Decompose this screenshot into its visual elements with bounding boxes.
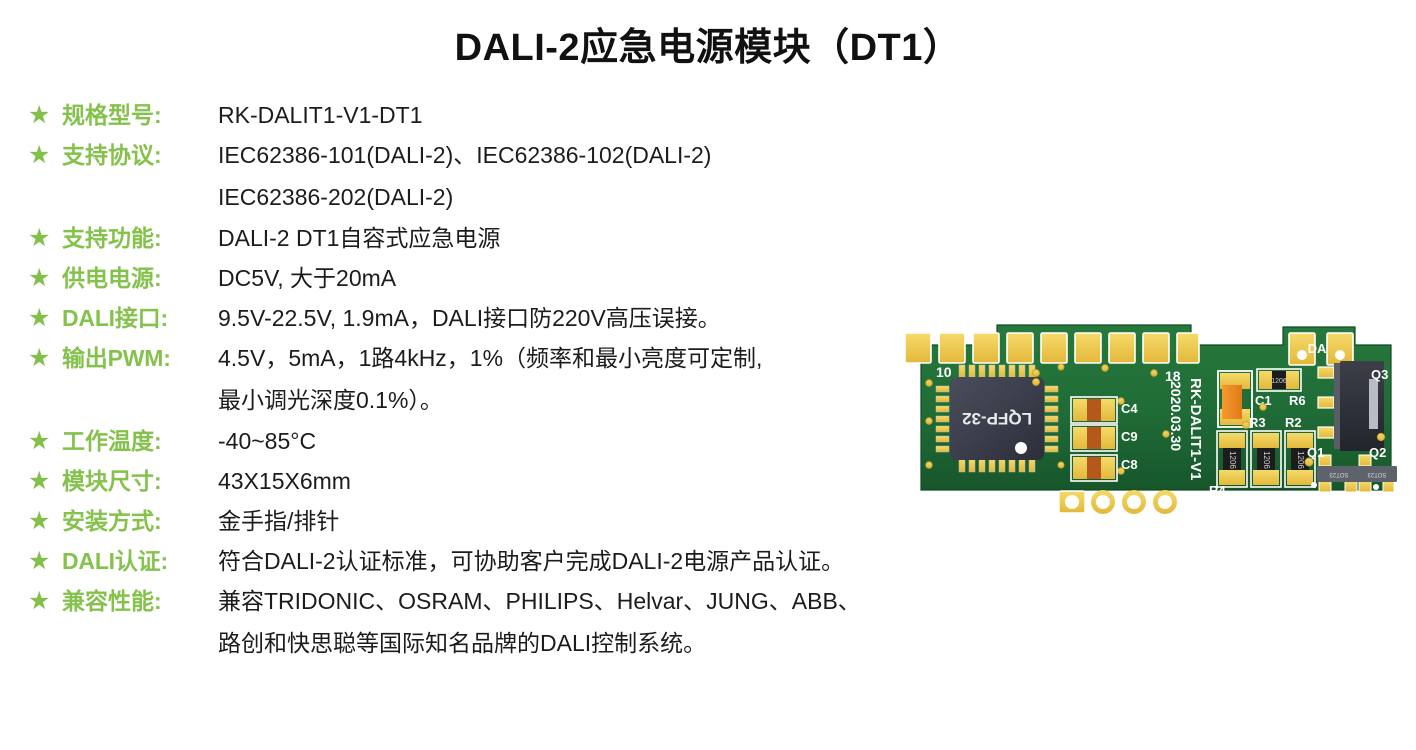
- spec-value-line1: IEC62386-101(DALI-2)、IEC62386-102(DALI-2…: [218, 142, 711, 168]
- silkscreen-chip-label: LQFP-32: [962, 409, 1032, 428]
- spec-row-mounting: ★ 安装方式: 金手指/排针: [28, 506, 908, 537]
- spec-value-line2: 路创和快思聪等国际知名品牌的DALI控制系统。: [218, 628, 908, 659]
- spec-label: DALI认证:: [62, 546, 218, 577]
- silkscreen-da-label: DA: [1308, 341, 1327, 356]
- spec-value: IEC62386-101(DALI-2)、IEC62386-102(DALI-2…: [218, 140, 908, 213]
- star-icon: ★: [28, 586, 62, 617]
- spec-label: 模块尺寸:: [62, 466, 218, 497]
- silkscreen-c4: C4: [1121, 401, 1138, 416]
- silkscreen-c8: C8: [1121, 457, 1138, 472]
- spec-value: RK-DALIT1-V1-DT1: [218, 100, 908, 131]
- spec-row-temperature: ★ 工作温度: -40~85°C: [28, 426, 908, 457]
- spec-row-function: ★ 支持功能: DALI-2 DT1自容式应急电源: [28, 223, 908, 254]
- silkscreen-q3: Q3: [1371, 367, 1388, 382]
- spec-value-line2: 最小调光深度0.1%）。: [218, 385, 908, 416]
- silkscreen-q2: Q2: [1369, 445, 1386, 460]
- star-icon: ★: [28, 506, 62, 537]
- spec-value: 符合DALI-2认证标准，可协助客户完成DALI-2电源产品认证。: [218, 546, 908, 577]
- star-icon: ★: [28, 140, 62, 171]
- silkscreen-r2: R2: [1285, 415, 1302, 430]
- spec-list: ★ 规格型号: RK-DALIT1-V1-DT1 ★ 支持协议: IEC6238…: [28, 100, 908, 669]
- silkscreen-c9: C9: [1121, 429, 1138, 444]
- spec-label: 支持功能:: [62, 223, 218, 254]
- spec-value: 金手指/排针: [218, 506, 908, 537]
- star-icon: ★: [28, 263, 62, 294]
- spec-label: 规格型号:: [62, 100, 218, 131]
- spec-row-certification: ★ DALI认证: 符合DALI-2认证标准，可协助客户完成DALI-2电源产品…: [28, 546, 908, 577]
- pcb-product-image: DA 10 18: [893, 315, 1398, 520]
- spec-value: DC5V, 大于20mA: [218, 263, 908, 294]
- spec-value: -40~85°C: [218, 426, 908, 457]
- spec-value-line2: IEC62386-202(DALI-2): [218, 182, 908, 213]
- resistor-code-r4: 1206: [1228, 451, 1237, 469]
- silkscreen-r4: R4: [1209, 483, 1226, 498]
- spec-value: 9.5V-22.5V, 1.9mA，DALI接口防220V高压误接。: [218, 303, 908, 334]
- silkscreen-part-number: RK-DALIT1-V1: [1187, 378, 1204, 481]
- spec-label: 安装方式:: [62, 506, 218, 537]
- spec-label: 支持协议:: [62, 140, 218, 171]
- star-icon: ★: [28, 426, 62, 457]
- spec-row-pwm-output: ★ 输出PWM: 4.5V，5mA，1路4kHz，1%（频率和最小亮度可定制, …: [28, 343, 908, 416]
- spec-value: DALI-2 DT1自容式应急电源: [218, 223, 908, 254]
- spec-row-protocol: ★ 支持协议: IEC62386-101(DALI-2)、IEC62386-10…: [28, 140, 908, 213]
- spec-value-line1: 兼容TRIDONIC、OSRAM、PHILIPS、Helvar、JUNG、ABB…: [218, 588, 861, 614]
- gold-finger-pads: [905, 333, 1199, 363]
- transistor-code-q1: SOT23: [1329, 471, 1349, 477]
- page-title: DALI-2应急电源模块（DT1）: [0, 16, 1416, 71]
- star-icon: ★: [28, 223, 62, 254]
- silkscreen-pin-left: 10: [936, 364, 952, 380]
- spec-row-dimensions: ★ 模块尺寸: 43X15X6mm: [28, 466, 908, 497]
- spec-value: 43X15X6mm: [218, 466, 908, 497]
- spec-label: DALI接口:: [62, 303, 218, 334]
- spec-value-line1: 4.5V，5mA，1路4kHz，1%（频率和最小亮度可定制,: [218, 345, 762, 371]
- resistor-code-r2: 1206: [1296, 451, 1305, 469]
- silkscreen-r6: R6: [1289, 393, 1306, 408]
- star-icon: ★: [28, 466, 62, 497]
- spec-label: 输出PWM:: [62, 343, 218, 374]
- transistor-code-q2: SOT23: [1367, 471, 1387, 477]
- resistor-code-r3: 1206: [1262, 451, 1271, 469]
- spec-label: 工作温度:: [62, 426, 218, 457]
- spec-row-model: ★ 规格型号: RK-DALIT1-V1-DT1: [28, 100, 908, 131]
- resistor-code-r6: 1206: [1271, 378, 1287, 385]
- star-icon: ★: [28, 100, 62, 131]
- star-icon: ★: [28, 343, 62, 374]
- capacitor-group: C4 C9 C8: [1071, 397, 1138, 481]
- spec-row-compatibility: ★ 兼容性能: 兼容TRIDONIC、OSRAM、PHILIPS、Helvar、…: [28, 586, 908, 659]
- spec-row-dali-interface: ★ DALI接口: 9.5V-22.5V, 1.9mA，DALI接口防220V高…: [28, 303, 908, 334]
- spec-value: 4.5V，5mA，1路4kHz，1%（频率和最小亮度可定制, 最小调光深度0.1…: [218, 343, 908, 416]
- star-icon: ★: [28, 303, 62, 334]
- test-pads: [1059, 490, 1193, 514]
- spec-label: 供电电源:: [62, 263, 218, 294]
- spec-label: 兼容性能:: [62, 586, 218, 617]
- spec-value: 兼容TRIDONIC、OSRAM、PHILIPS、Helvar、JUNG、ABB…: [218, 586, 908, 659]
- spec-row-power: ★ 供电电源: DC5V, 大于20mA: [28, 263, 908, 294]
- star-icon: ★: [28, 546, 62, 577]
- silkscreen-r3: R3: [1249, 415, 1266, 430]
- silkscreen-date-code: 2020.03.30: [1168, 381, 1184, 451]
